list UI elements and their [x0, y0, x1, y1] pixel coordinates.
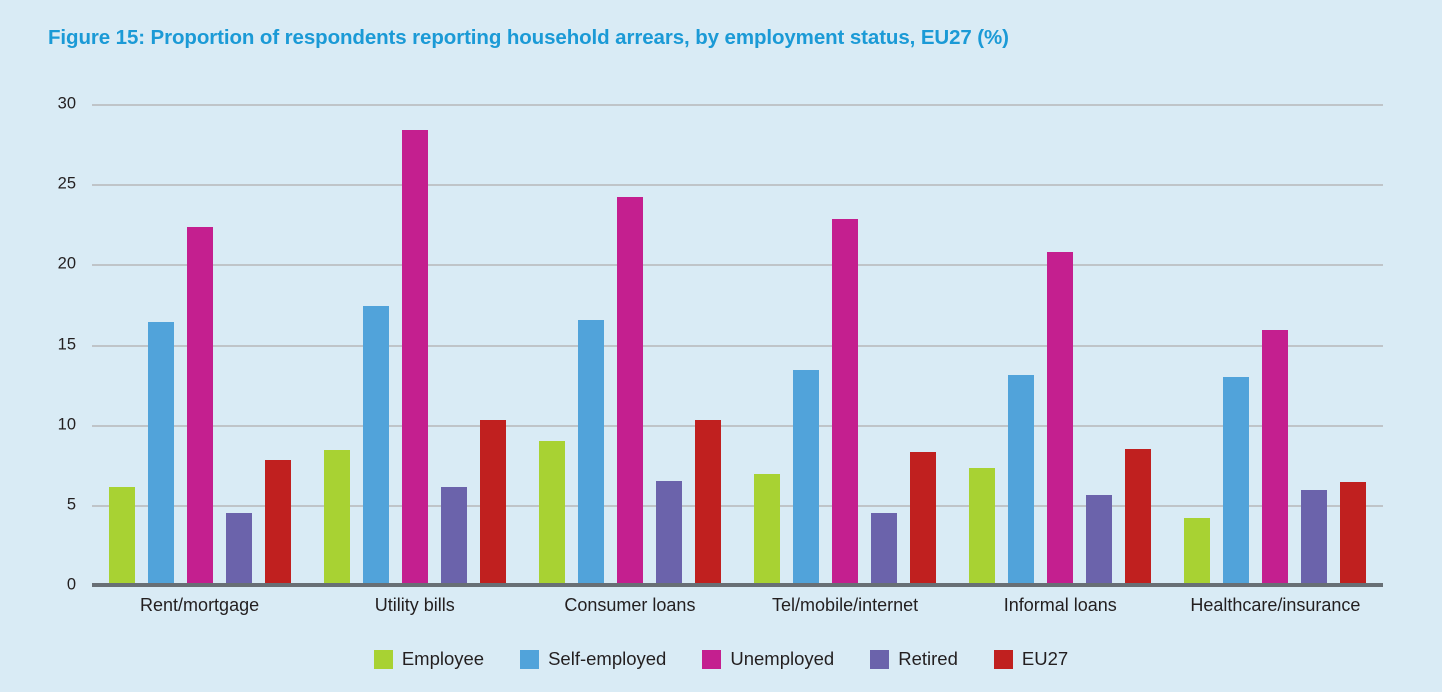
bar[interactable] [1301, 490, 1327, 585]
legend-swatch-icon [994, 650, 1013, 669]
legend-item[interactable]: Self-employed [520, 648, 666, 670]
bar-group [539, 104, 721, 585]
y-axis-tick-label: 15 [30, 335, 76, 354]
y-axis-tick-label: 0 [30, 576, 76, 595]
bar[interactable] [695, 420, 721, 585]
y-axis-tick-label: 5 [30, 495, 76, 514]
bar[interactable] [578, 320, 604, 585]
bar[interactable] [148, 322, 174, 585]
bar[interactable] [793, 370, 819, 585]
y-axis-tick-label: 20 [30, 255, 76, 274]
bar[interactable] [402, 130, 428, 585]
bar[interactable] [832, 219, 858, 585]
x-axis-tick-label: Informal loans [1004, 595, 1117, 616]
y-axis-tick-label: 25 [30, 175, 76, 194]
bar[interactable] [871, 513, 897, 585]
bar-group [754, 104, 936, 585]
bar[interactable] [1223, 377, 1249, 585]
bar[interactable] [109, 487, 135, 585]
bar-group [109, 104, 291, 585]
legend-swatch-icon [520, 650, 539, 669]
legend-label: Unemployed [730, 648, 834, 670]
bar-group [1184, 104, 1366, 585]
x-axis-tick-label: Healthcare/insurance [1190, 595, 1360, 616]
bar[interactable] [656, 481, 682, 585]
legend-swatch-icon [870, 650, 889, 669]
bar[interactable] [226, 513, 252, 585]
legend: EmployeeSelf-employedUnemployedRetiredEU… [0, 648, 1442, 670]
bar-group [324, 104, 506, 585]
bar[interactable] [441, 487, 467, 585]
x-axis-tick-label: Utility bills [375, 595, 455, 616]
legend-item[interactable]: Unemployed [702, 648, 834, 670]
x-axis-labels: Rent/mortgageUtility billsConsumer loans… [92, 595, 1383, 625]
x-axis-tick-label: Consumer loans [564, 595, 695, 616]
legend-label: Retired [898, 648, 958, 670]
plot-area [92, 104, 1383, 585]
page-title: Figure 15: Proportion of respondents rep… [48, 26, 1009, 50]
x-axis-tick-label: Tel/mobile/internet [772, 595, 918, 616]
bar[interactable] [1184, 518, 1210, 585]
bar[interactable] [1008, 375, 1034, 585]
bar[interactable] [1086, 495, 1112, 585]
bar[interactable] [539, 441, 565, 585]
legend-label: EU27 [1022, 648, 1068, 670]
x-axis-tick-label: Rent/mortgage [140, 595, 259, 616]
bar[interactable] [1125, 449, 1151, 585]
legend-label: Self-employed [548, 648, 666, 670]
legend-item[interactable]: Employee [374, 648, 484, 670]
figure-container: Figure 15: Proportion of respondents rep… [0, 0, 1442, 692]
bar-group [969, 104, 1151, 585]
bar[interactable] [617, 197, 643, 585]
legend-item[interactable]: Retired [870, 648, 958, 670]
y-axis-tick-label: 30 [30, 95, 76, 114]
bar[interactable] [1262, 330, 1288, 585]
bar[interactable] [265, 460, 291, 585]
bar[interactable] [969, 468, 995, 585]
bar[interactable] [1340, 482, 1366, 585]
bar[interactable] [324, 450, 350, 585]
bar[interactable] [187, 227, 213, 585]
bar[interactable] [910, 452, 936, 585]
x-axis-line [92, 583, 1383, 587]
bar[interactable] [480, 420, 506, 585]
bar[interactable] [754, 474, 780, 585]
legend-swatch-icon [702, 650, 721, 669]
legend-label: Employee [402, 648, 484, 670]
bar[interactable] [1047, 252, 1073, 585]
legend-item[interactable]: EU27 [994, 648, 1068, 670]
y-axis-labels: 302520151050 [14, 104, 76, 585]
bar[interactable] [363, 306, 389, 585]
y-axis-tick-label: 10 [30, 415, 76, 434]
legend-swatch-icon [374, 650, 393, 669]
